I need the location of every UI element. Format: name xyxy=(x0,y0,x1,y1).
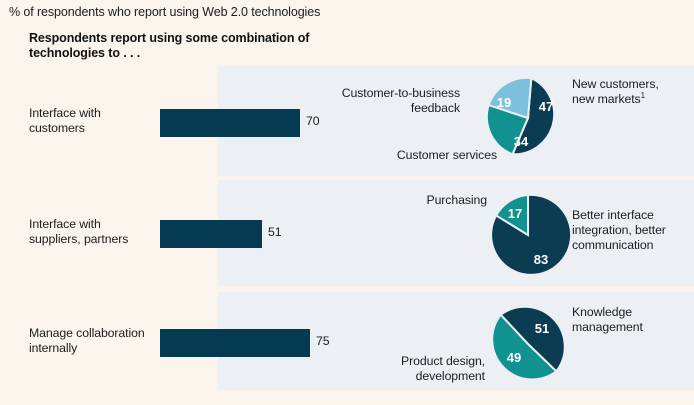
bar-label-3-line2: internally xyxy=(29,341,77,355)
pie-3-label-left-line2: development xyxy=(416,369,485,383)
pie-3-label-knowledge-management: Knowledge management xyxy=(572,305,692,335)
chart-subtitle: Respondents report using some combinatio… xyxy=(29,31,329,61)
pie-3-label-right-line2: management xyxy=(572,320,643,334)
bar-value-1: 70 xyxy=(306,114,319,128)
pie-1-label-new-customers-new-markets: New customers, new markets1 xyxy=(572,77,692,107)
pie-1-value-47: 47 xyxy=(539,99,553,114)
pie-2-label-right-line1: Better interface xyxy=(572,208,654,222)
bar-track-3 xyxy=(160,329,310,357)
pie-1-label-left-line2: feedback xyxy=(411,101,460,115)
bar-track-2 xyxy=(160,220,262,248)
bar-label-3: Manage collaboration internally xyxy=(29,326,164,356)
pie-3-value-49: 49 xyxy=(507,350,521,365)
chart-kicker: % of respondents who report using Web 2.… xyxy=(9,5,320,19)
bar-label-2: Interface with suppliers, partners xyxy=(29,217,164,247)
bar-label-1: Interface with customers xyxy=(29,106,164,136)
pie-2-label-purchasing: Purchasing xyxy=(355,193,487,208)
bar-label-2-line1: Interface with xyxy=(29,217,101,231)
pie-2-value-83: 83 xyxy=(534,252,548,267)
infographic-root: % of respondents who report using Web 2.… xyxy=(0,0,694,405)
pie-3-value-51: 51 xyxy=(535,321,549,336)
pie-3-label-right-line1: Knowledge xyxy=(572,305,632,319)
pie-2-value-17: 17 xyxy=(508,206,522,221)
pie-2-label-right-line3: communication xyxy=(572,238,653,252)
bar-fill-3 xyxy=(160,329,310,357)
pie-chart-1: 47 34 19 xyxy=(483,73,573,163)
pie-2-label-left-line1: Purchasing xyxy=(426,193,487,207)
bar-value-2: 51 xyxy=(268,225,281,239)
bar-label-3-line1: Manage collaboration xyxy=(29,326,145,340)
pie-chart-2: 83 17 xyxy=(484,191,572,279)
bar-value-3: 75 xyxy=(316,334,329,348)
pie-1-label-customer-services: Customer services xyxy=(360,148,497,163)
bar-label-2-line2: suppliers, partners xyxy=(29,232,128,246)
pie-1-label-right-line1: New customers, xyxy=(572,77,659,91)
bar-track-1 xyxy=(160,109,300,137)
pie-3-label-left-line1: Product design, xyxy=(401,354,485,368)
pie-2-label-better-interface: Better interface integration, better com… xyxy=(572,208,694,253)
pie-1-value-19: 19 xyxy=(497,95,511,110)
bar-label-1-line2: customers xyxy=(29,121,85,135)
pie-chart-3: 51 49 xyxy=(484,300,572,388)
pie-1-label-customer-to-business-feedback: Customer-to-business feedback xyxy=(330,86,460,116)
pie-1-label-bottom: Customer services xyxy=(397,148,497,162)
pie-3-label-product-design-development: Product design, development xyxy=(355,354,485,384)
pie-1-label-right-line2: new markets xyxy=(572,92,641,106)
bar-fill-1 xyxy=(160,109,300,137)
pie-2-label-right-line2: integration, better xyxy=(572,223,666,237)
pie-1-label-left-line1: Customer-to-business xyxy=(342,86,460,100)
bar-label-1-line1: Interface with xyxy=(29,106,101,120)
pie-1-label-right-superscript: 1 xyxy=(641,91,645,100)
pie-1-value-34: 34 xyxy=(514,134,529,149)
bar-fill-2 xyxy=(160,220,262,248)
